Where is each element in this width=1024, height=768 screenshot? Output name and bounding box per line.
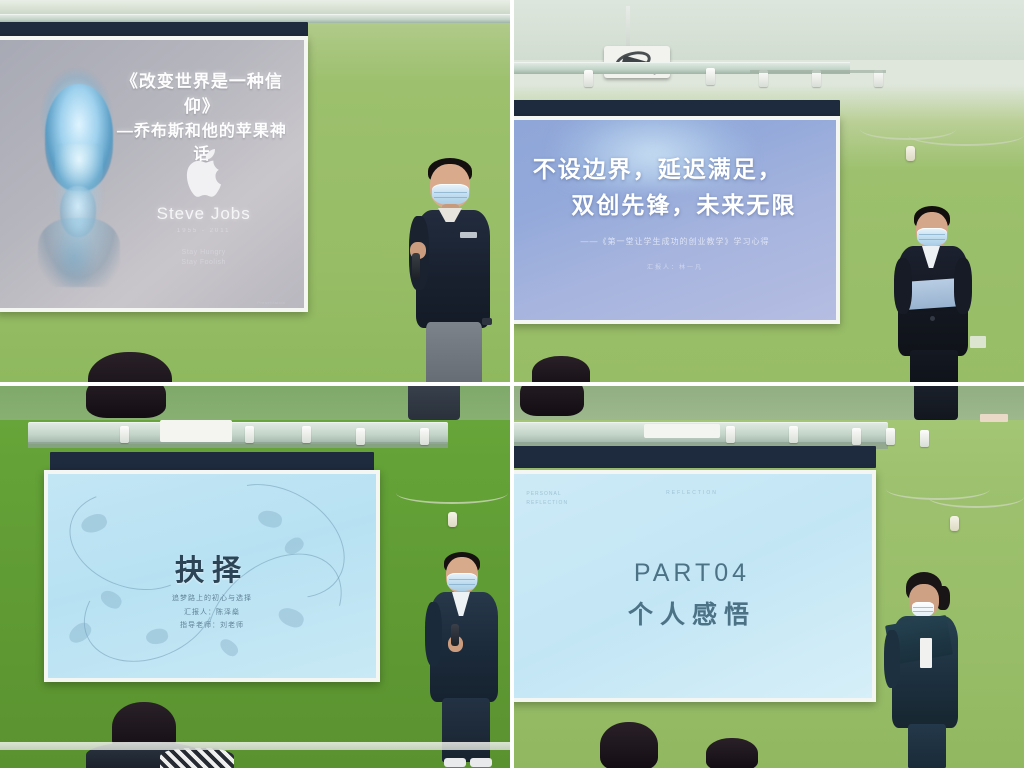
motto-line2: Stay Foolish xyxy=(181,259,226,266)
wire-bulb xyxy=(906,146,915,161)
screen-surface: 抉择 追梦路上的初心与选择 汇报人：陈泽燊 指导老师：刘老师 xyxy=(48,474,376,678)
audience-head-upper xyxy=(86,386,166,418)
jobs-body xyxy=(38,218,121,287)
wire-bulb xyxy=(950,516,959,531)
screen-surface: 不设边界，延迟满足， 双创先锋，未来无限 ——《第一堂让学生成功的创业教学》学习… xyxy=(514,120,836,320)
presenter-top-left xyxy=(404,158,510,382)
projection-screen: 抉择 追梦路上的初心与选择 汇报人：陈泽燊 指导老师：刘老师 xyxy=(44,470,380,682)
screen-casing xyxy=(514,446,876,468)
presenter-pants xyxy=(426,322,482,382)
track-lamp xyxy=(920,430,929,447)
presenter-left-arm xyxy=(894,258,912,314)
presenter-top-right xyxy=(892,206,988,382)
presenter-shoe xyxy=(470,758,492,767)
track-lamp xyxy=(886,428,895,445)
motto-line1: Stay Hungry xyxy=(182,249,226,256)
presenter-face-mask xyxy=(917,228,947,246)
slide-text-column: 《改变世界是一种信仰》 —乔布斯和他的苹果神话 Steve Jobs 1955 … xyxy=(116,51,292,298)
projection-screen: 《改变世界是一种信仰》 —乔布斯和他的苹果神话 Steve Jobs 1955 … xyxy=(0,36,308,312)
track-paper-sign xyxy=(644,424,720,438)
apple-logo-icon xyxy=(182,149,226,199)
slide-title-line1: 《改变世界是一种信仰》 xyxy=(121,72,283,116)
presenter-trousers xyxy=(442,698,490,762)
slide-byline: 汇报人：林一凡 xyxy=(514,262,836,271)
slide-top-label: REFLECTION xyxy=(514,490,872,496)
hanging-wire xyxy=(928,486,1024,508)
ceiling-band xyxy=(0,0,510,14)
folder-paper xyxy=(920,638,932,668)
suit-button xyxy=(930,316,935,321)
slide-credit: Presentation xyxy=(257,300,285,305)
slide-part-divider: PERSONAL REFLECTION REFLECTION PART04 个人… xyxy=(514,474,872,698)
presenter-bottom-right xyxy=(882,572,978,768)
slide-title-line1: 不设边界，延迟满足， xyxy=(527,152,823,188)
polo-badge xyxy=(460,232,477,238)
subtitle-line1: 追梦路上的初心与选择 xyxy=(172,595,252,602)
audience-head xyxy=(600,722,658,768)
presenter-left-arm xyxy=(425,602,442,666)
ceiling-track xyxy=(28,422,448,444)
hanging-wire xyxy=(908,124,1024,146)
track-lamp xyxy=(420,428,429,445)
slide-part-title: 个人感悟 xyxy=(514,595,872,631)
photo-collage: 《改变世界是一种信仰》 —乔布斯和他的苹果神话 Steve Jobs 1955 … xyxy=(0,0,1024,768)
slide-blue-title: 不设边界，延迟满足， 双创先锋，未来无限 ——《第一堂让学生成功的创业教学》学习… xyxy=(514,120,836,320)
slide-floral-title: 抉择 追梦路上的初心与选择 汇报人：陈泽燊 指导老师：刘老师 xyxy=(48,474,376,678)
microphone-icon xyxy=(412,253,420,279)
presenter-face-mask xyxy=(447,573,477,591)
screen-surface: PERSONAL REFLECTION REFLECTION PART04 个人… xyxy=(514,474,872,698)
slide-subtitle: 追梦路上的初心与选择 汇报人：陈泽燊 指导老师：刘老师 xyxy=(48,592,376,632)
wire-bulb xyxy=(448,512,457,527)
panel-top-right: 不设边界，延迟满足， 双创先锋，未来无限 ——《第一堂让学生成功的创业教学》学习… xyxy=(514,0,1024,382)
panel-bottom-right: PERSONAL REFLECTION REFLECTION PART04 个人… xyxy=(514,386,1024,768)
presenter-shoe xyxy=(444,758,466,767)
corner-label-line2: REFLECTION xyxy=(526,500,568,506)
audience-head xyxy=(706,738,758,768)
ceiling-track-shadow xyxy=(28,442,448,448)
screen-surface: 《改变世界是一种信仰》 —乔布斯和他的苹果神话 Steve Jobs 1955 … xyxy=(0,40,304,308)
presenter-left-arm xyxy=(884,630,900,688)
standing-legs-upper xyxy=(408,386,460,420)
track-lamp xyxy=(789,426,798,443)
track-lamp xyxy=(706,68,715,85)
subtitle-line2: 汇报人：陈泽燊 xyxy=(184,609,240,616)
presenter-face-mask xyxy=(432,184,469,205)
track-lamp xyxy=(120,426,129,443)
track-lamp xyxy=(302,426,311,443)
brand-name: Steve Jobs xyxy=(116,204,292,224)
presenter-face-mask xyxy=(912,602,934,617)
panel-bottom-left: 抉择 追梦路上的初心与选择 汇报人：陈泽燊 指导老师：刘老师 xyxy=(0,386,510,768)
brand-motto: Stay Hungry Stay Foolish xyxy=(116,248,292,269)
track-lamp xyxy=(852,428,861,445)
projector-pole xyxy=(626,6,630,48)
track-lamp xyxy=(584,70,593,87)
presenter-right-arm xyxy=(954,258,972,314)
slide-title: 抉择 xyxy=(48,547,376,589)
presenter-trousers xyxy=(910,350,958,382)
audience-desk xyxy=(0,742,510,750)
projection-screen: 不设边界，延迟满足， 双创先锋，未来无限 ——《第一堂让学生成功的创业教学》学习… xyxy=(514,116,840,324)
panel-top-left: 《改变世界是一种信仰》 —乔布斯和他的苹果神话 Steve Jobs 1955 … xyxy=(0,0,510,382)
hanging-wire xyxy=(396,482,508,504)
wrist-watch xyxy=(482,318,492,325)
track-paper-sign xyxy=(160,420,232,442)
projection-screen: PERSONAL REFLECTION REFLECTION PART04 个人… xyxy=(514,470,876,702)
standing-legs-upper xyxy=(914,386,958,420)
microphone-icon xyxy=(451,624,459,646)
track-rail-extension xyxy=(750,70,886,73)
wall-outlet xyxy=(980,414,1008,422)
audience-head xyxy=(532,356,590,382)
wall-outlet xyxy=(970,336,986,348)
presenter-bottom-left xyxy=(424,552,510,768)
audience-pattern-shirt xyxy=(160,748,234,768)
track-lamp xyxy=(245,426,254,443)
slide-part-number: PART04 xyxy=(514,559,872,588)
presenter-trousers xyxy=(908,724,946,768)
slide-steve-jobs: 《改变世界是一种信仰》 —乔布斯和他的苹果神话 Steve Jobs 1955 … xyxy=(0,40,304,308)
track-lamp xyxy=(356,428,365,445)
upper-wall xyxy=(514,0,1024,60)
slide-title: 不设边界，延迟满足， 双创先锋，未来无限 xyxy=(527,152,823,223)
slide-title-line2: 双创先锋，未来无限 xyxy=(527,188,823,224)
subtitle-line3: 指导老师：刘老师 xyxy=(180,622,244,629)
brand-years: 1955 - 2011 xyxy=(116,228,292,234)
slide-subtitle: ——《第一堂让学生成功的创业教学》学习心得 xyxy=(533,236,816,247)
track-lamp xyxy=(726,426,735,443)
audience-head-upper xyxy=(520,386,584,416)
